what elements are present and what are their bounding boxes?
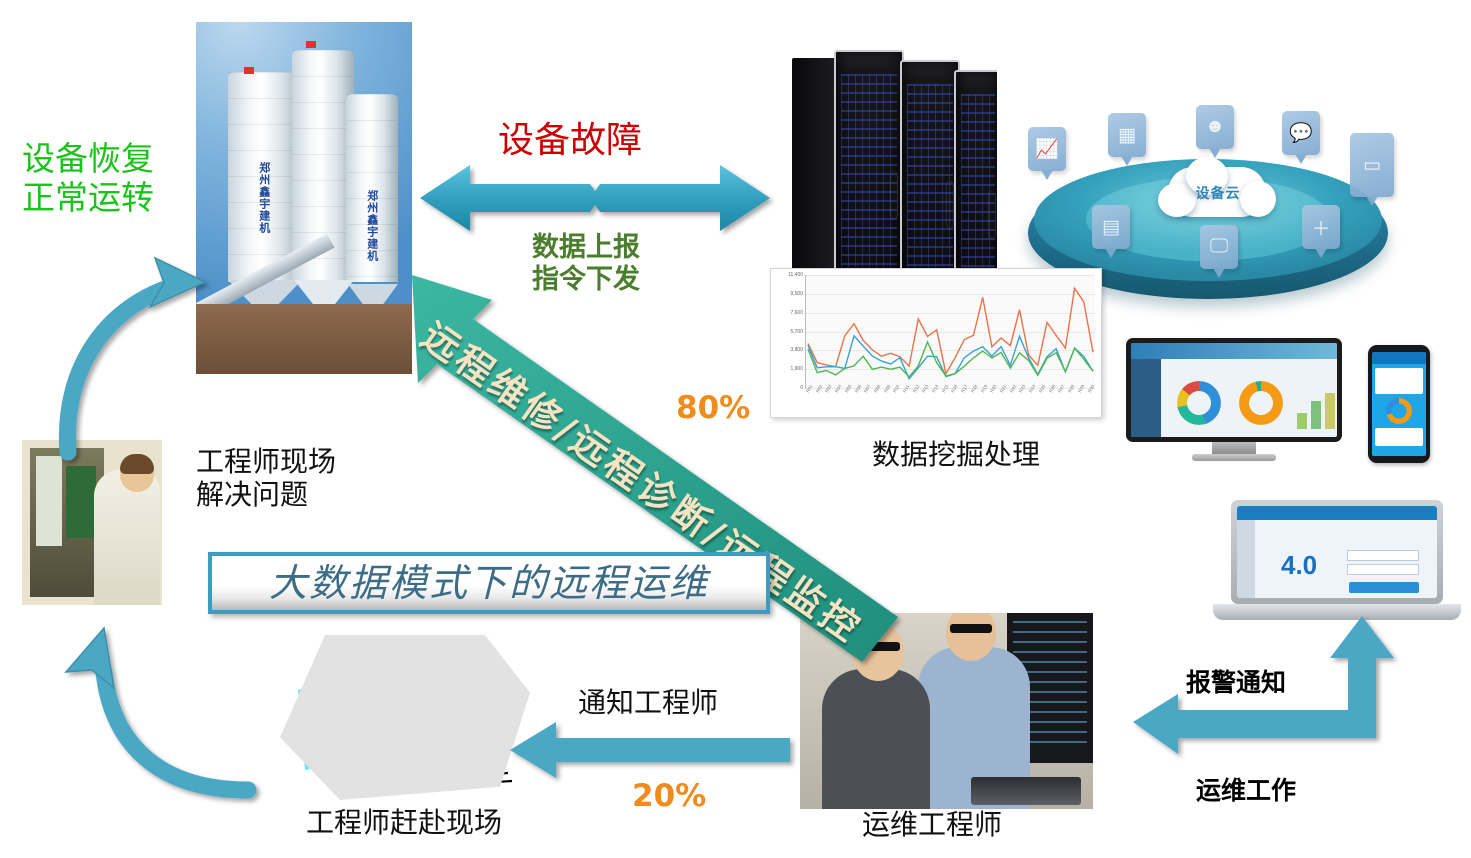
label-percent-remote: 80% bbox=[676, 390, 750, 427]
chart-y-tick: 1,900 bbox=[771, 366, 803, 372]
chart-y-tick: 3,800 bbox=[771, 347, 803, 353]
monitor-icon: 🖵 bbox=[1200, 225, 1238, 269]
transport-clipart bbox=[280, 635, 530, 800]
label-engineer-onsite: 工程师现场 解决问题 bbox=[196, 445, 336, 511]
label-ops-work: 运维工作 bbox=[1196, 776, 1296, 806]
label-equipment-fault: 设备故障 bbox=[498, 120, 642, 162]
user-icon: ☻ bbox=[1196, 105, 1234, 149]
label-engineer-travel: 工程师赶赴现场 bbox=[306, 806, 502, 839]
label-notify-engineer: 通知工程师 bbox=[578, 686, 718, 719]
concrete-batching-plant-photo: 郑州鑫宇建机 郑州鑫宇建机 bbox=[196, 22, 412, 374]
desktop-dashboard-monitor bbox=[1126, 338, 1342, 466]
laptop-login-screen: 4.0 bbox=[1213, 500, 1461, 628]
page-title: 大数据模式下的远程运维 bbox=[269, 561, 709, 606]
chart-icon: 📈 bbox=[1028, 127, 1066, 171]
silo-brand-right: 郑州鑫宇建机 bbox=[364, 190, 378, 262]
chart-line-series-blue bbox=[808, 336, 1093, 379]
message-icon: 💬 bbox=[1282, 111, 1320, 155]
mobile-dashboard-phone bbox=[1368, 345, 1430, 463]
cloud-label: 设备云 bbox=[1168, 181, 1268, 205]
chart-y-tick: 11,400 bbox=[771, 272, 803, 278]
label-percent-onsite: 20% bbox=[632, 778, 706, 815]
calendar-icon: ▦ bbox=[1108, 113, 1146, 157]
tablet-icon: ▭ bbox=[1350, 133, 1394, 197]
document-icon: ▤ bbox=[1092, 205, 1130, 249]
diagram-canvas: 郑州鑫宇建机 郑州鑫宇建机 设备云 📈 ▦ ☻ bbox=[0, 0, 1471, 858]
arrow-notify-engineer bbox=[510, 722, 790, 778]
diagram-title-box: 大数据模式下的远程运维 bbox=[208, 552, 770, 614]
data-mining-line-chart: R01R02R03R04R05R06R07R08R09R10R11R12R13R… bbox=[770, 268, 1102, 418]
chart-y-tick: 9,500 bbox=[771, 291, 803, 297]
curved-arrow-transport-to-engineer bbox=[66, 628, 248, 790]
chart-y-tick: 0 bbox=[771, 385, 803, 391]
chart-y-tick: 5,700 bbox=[771, 329, 803, 335]
label-data-report-command: 数据上报 指令下发 bbox=[532, 232, 640, 296]
bidirectional-arrow-fault bbox=[420, 165, 770, 231]
chart-series-layer bbox=[806, 275, 1095, 388]
laptop-screen-text: 4.0 bbox=[1281, 550, 1317, 581]
label-ops-engineer: 运维工程师 bbox=[862, 808, 1002, 841]
label-alarm-notice: 报警通知 bbox=[1186, 668, 1286, 698]
add-icon: ＋ bbox=[1302, 205, 1340, 249]
silo-brand-left: 郑州鑫宇建机 bbox=[256, 162, 270, 234]
ops-engineers-photo bbox=[800, 613, 1093, 809]
engineer-repairing-cabinet-photo bbox=[22, 440, 162, 605]
label-equipment-recovery: 设备恢复 正常运转 bbox=[22, 140, 154, 218]
chart-line-series-orange bbox=[808, 288, 1093, 373]
curved-arrow-engineer-to-plant bbox=[67, 258, 205, 452]
chart-y-tick: 7,600 bbox=[771, 310, 803, 316]
label-data-mining: 数据挖掘处理 bbox=[872, 438, 1040, 471]
server-racks-photo bbox=[792, 50, 997, 285]
